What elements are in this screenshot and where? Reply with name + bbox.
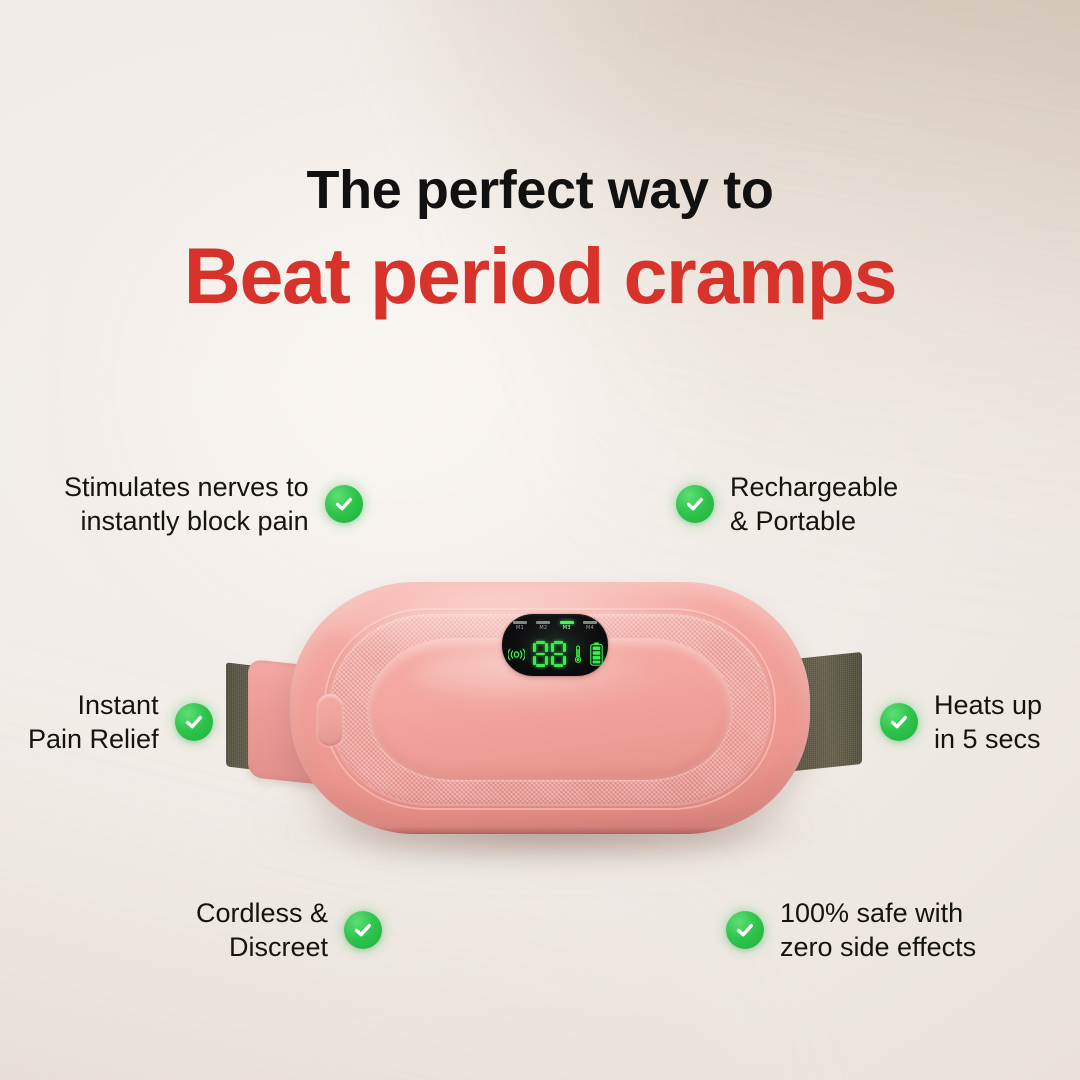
feature-label-cordless-discreet: Cordless & Discreet	[196, 896, 328, 965]
mode-indicator-m1[interactable]: M1	[510, 621, 530, 631]
feature-label-instant-pain-relief: Instant Pain Relief	[28, 688, 159, 757]
product-poster: The perfect way to Beat period cramps	[0, 0, 1080, 1080]
feature-heats-up: Heats up in 5 secs	[880, 688, 1042, 757]
mode-label-m3: M3	[557, 625, 577, 631]
temperature-digits	[533, 641, 566, 667]
mode-label-m2: M2	[533, 625, 553, 631]
feature-label-safe-zero-side-effects: 100% safe with zero side effects	[780, 896, 976, 965]
display-readout-row	[508, 639, 603, 669]
feature-safe-zero-side-effects: 100% safe with zero side effects	[726, 896, 976, 965]
check-circle-icon	[676, 485, 714, 523]
mode-label-m4: M4	[580, 625, 600, 631]
mode-indicator-m4[interactable]: M4	[580, 621, 600, 631]
feature-rechargeable-portable: Rechargeable & Portable	[676, 470, 898, 539]
feature-label-heats-up: Heats up in 5 secs	[934, 688, 1042, 757]
seven-segment-digit-1	[533, 641, 548, 667]
battery-full-icon	[590, 642, 603, 666]
feature-label-stimulates-nerves: Stimulates nerves to instantly block pai…	[64, 470, 309, 539]
check-circle-icon	[175, 703, 213, 741]
mode-indicator-m3[interactable]: M3	[557, 621, 577, 631]
device-body: M1 M2 M3 M4	[290, 582, 810, 834]
headline-block: The perfect way to Beat period cramps	[0, 162, 1080, 317]
thermometer-icon	[574, 645, 582, 664]
vibration-icon	[508, 647, 525, 662]
headline-line-1: The perfect way to	[0, 162, 1080, 219]
check-circle-icon	[325, 485, 363, 523]
seven-segment-digit-2	[551, 641, 566, 667]
power-button[interactable]	[317, 694, 343, 746]
mode-indicator-m2[interactable]: M2	[533, 621, 553, 631]
check-circle-icon	[880, 703, 918, 741]
feature-instant-pain-relief: Instant Pain Relief	[28, 688, 213, 757]
feature-label-rechargeable-portable: Rechargeable & Portable	[730, 470, 898, 539]
headline-line-2: Beat period cramps	[0, 235, 1080, 317]
mode-indicator-row: M1 M2 M3 M4	[510, 621, 600, 631]
mode-label-m1: M1	[510, 625, 530, 631]
feature-cordless-discreet: Cordless & Discreet	[196, 896, 382, 965]
check-circle-icon	[726, 911, 764, 949]
device-bottom-edge	[306, 826, 795, 834]
led-display[interactable]: M1 M2 M3 M4	[502, 614, 608, 676]
check-circle-icon	[344, 911, 382, 949]
feature-stimulates-nerves: Stimulates nerves to instantly block pai…	[64, 470, 363, 539]
